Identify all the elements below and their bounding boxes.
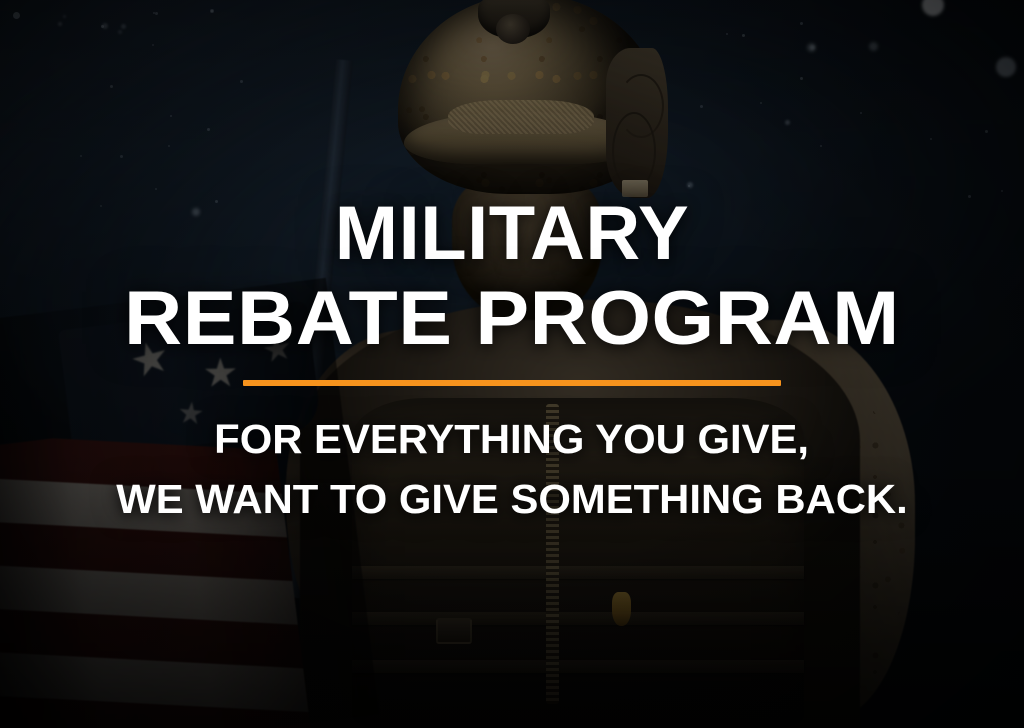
subheadline-line-2: WE WANT TO GIVE SOMETHING BACK. <box>116 474 908 524</box>
orange-divider-rule <box>243 380 781 386</box>
military-rebate-banner: ★ ★ ★ ★ MILITARY REBATE PROGRAM FOR EVER… <box>0 0 1024 728</box>
subheadline-line-1: FOR EVERYTHING YOU GIVE, <box>215 414 810 464</box>
banner-content: MILITARY REBATE PROGRAM FOR EVERYTHING Y… <box>0 0 1024 728</box>
headline-line-2: REBATE PROGRAM <box>124 278 900 360</box>
headline-line-1: MILITARY <box>335 196 689 272</box>
